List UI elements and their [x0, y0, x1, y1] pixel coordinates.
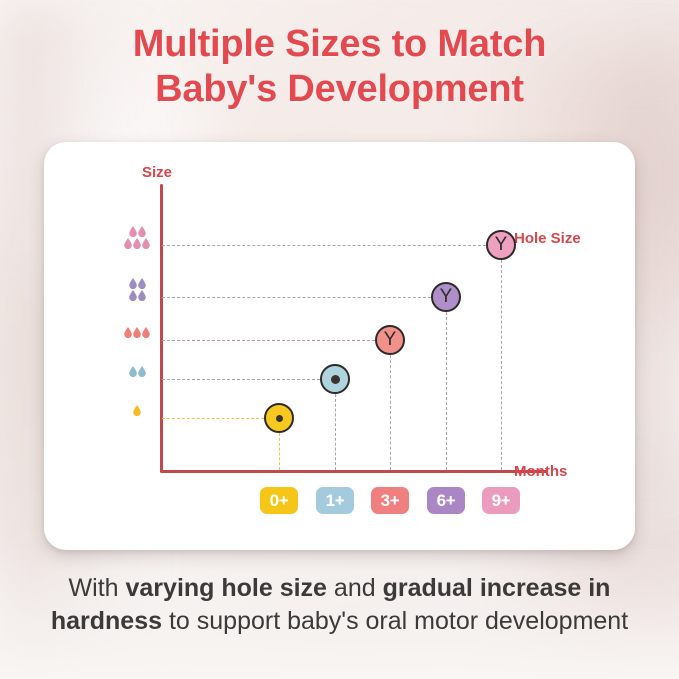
data-point-9plus[interactable]: Y: [486, 230, 516, 260]
page-title: Multiple Sizes to Match Baby's Developme…: [0, 22, 679, 112]
caption: With varying hole size and gradual incre…: [30, 572, 649, 639]
gridline-m: [162, 340, 390, 341]
y-cut-nipple-icon: Y: [440, 287, 453, 306]
chart-card: Size Hole Size Months SSSMLLL YYY 0+1+3+…: [44, 142, 635, 550]
x-axis-title: Months: [514, 463, 567, 480]
data-point-6plus[interactable]: Y: [431, 282, 461, 312]
hole-size-drops-l: [116, 273, 158, 305]
gridline-ll: [162, 245, 501, 246]
water-drop-icon: [129, 278, 137, 289]
water-drop-icon: [133, 327, 141, 338]
drop-row: [116, 405, 158, 416]
stem-9+: [501, 260, 502, 470]
data-point-0plus[interactable]: [264, 403, 294, 433]
hole-size-drops-m: [116, 316, 158, 348]
stem-6+: [446, 312, 447, 470]
x-axis-badge-1plus[interactable]: 1+: [316, 487, 354, 514]
caption-bold-1: varying hole size: [126, 574, 327, 602]
y-axis-line: [160, 184, 163, 472]
drop-row: [116, 238, 158, 249]
x-axis-badge-6plus[interactable]: 6+: [427, 487, 465, 514]
water-drop-icon: [138, 290, 146, 301]
page-title-line-1: Multiple Sizes to Match: [133, 23, 546, 65]
water-drop-icon: [138, 366, 146, 377]
gridline-s: [162, 379, 335, 380]
stem-3+: [390, 355, 391, 470]
round-hole-icon: [276, 415, 283, 422]
drop-row: [116, 226, 158, 237]
page-title-line-2: Baby's Development: [0, 67, 679, 112]
water-drop-icon: [129, 226, 137, 237]
water-drop-icon: [129, 366, 137, 377]
drop-row: [116, 366, 158, 377]
drop-row: [116, 327, 158, 338]
gridline-l: [162, 297, 446, 298]
water-drop-icon: [133, 238, 141, 249]
y-axis-title: Size: [142, 164, 172, 181]
water-drop-icon: [124, 327, 132, 338]
series-title: Hole Size: [514, 230, 581, 247]
hole-size-drops-s: [116, 355, 158, 387]
caption-part-2: and: [327, 574, 383, 602]
data-point-1plus[interactable]: [320, 364, 350, 394]
chart-plot-area: Size Hole Size Months SSSMLLL YYY 0+1+3+…: [44, 142, 635, 550]
water-drop-icon: [124, 238, 132, 249]
hole-size-drops-ll: [116, 221, 158, 253]
stem-0+: [279, 433, 280, 470]
drop-row: [116, 278, 158, 289]
water-drop-icon: [133, 405, 141, 416]
water-drop-icon: [142, 238, 150, 249]
water-drop-icon: [142, 327, 150, 338]
x-axis-line: [160, 470, 548, 473]
caption-part-3: to support baby's oral motor development: [162, 607, 628, 635]
gridline-ss: [162, 418, 279, 419]
x-axis-badge-3plus[interactable]: 3+: [371, 487, 409, 514]
stem-1+: [335, 394, 336, 470]
x-axis-badge-0plus[interactable]: 0+: [260, 487, 298, 514]
drop-row: [116, 290, 158, 301]
water-drop-icon: [138, 226, 146, 237]
water-drop-icon: [129, 290, 137, 301]
caption-part-1: With: [69, 574, 126, 602]
y-cut-nipple-icon: Y: [384, 330, 397, 349]
round-hole-icon: [331, 375, 340, 384]
data-point-3plus[interactable]: Y: [375, 325, 405, 355]
hole-size-drops-ss: [116, 394, 158, 426]
water-drop-icon: [138, 278, 146, 289]
x-axis-badge-9plus[interactable]: 9+: [482, 487, 520, 514]
y-cut-nipple-icon: Y: [495, 235, 508, 254]
